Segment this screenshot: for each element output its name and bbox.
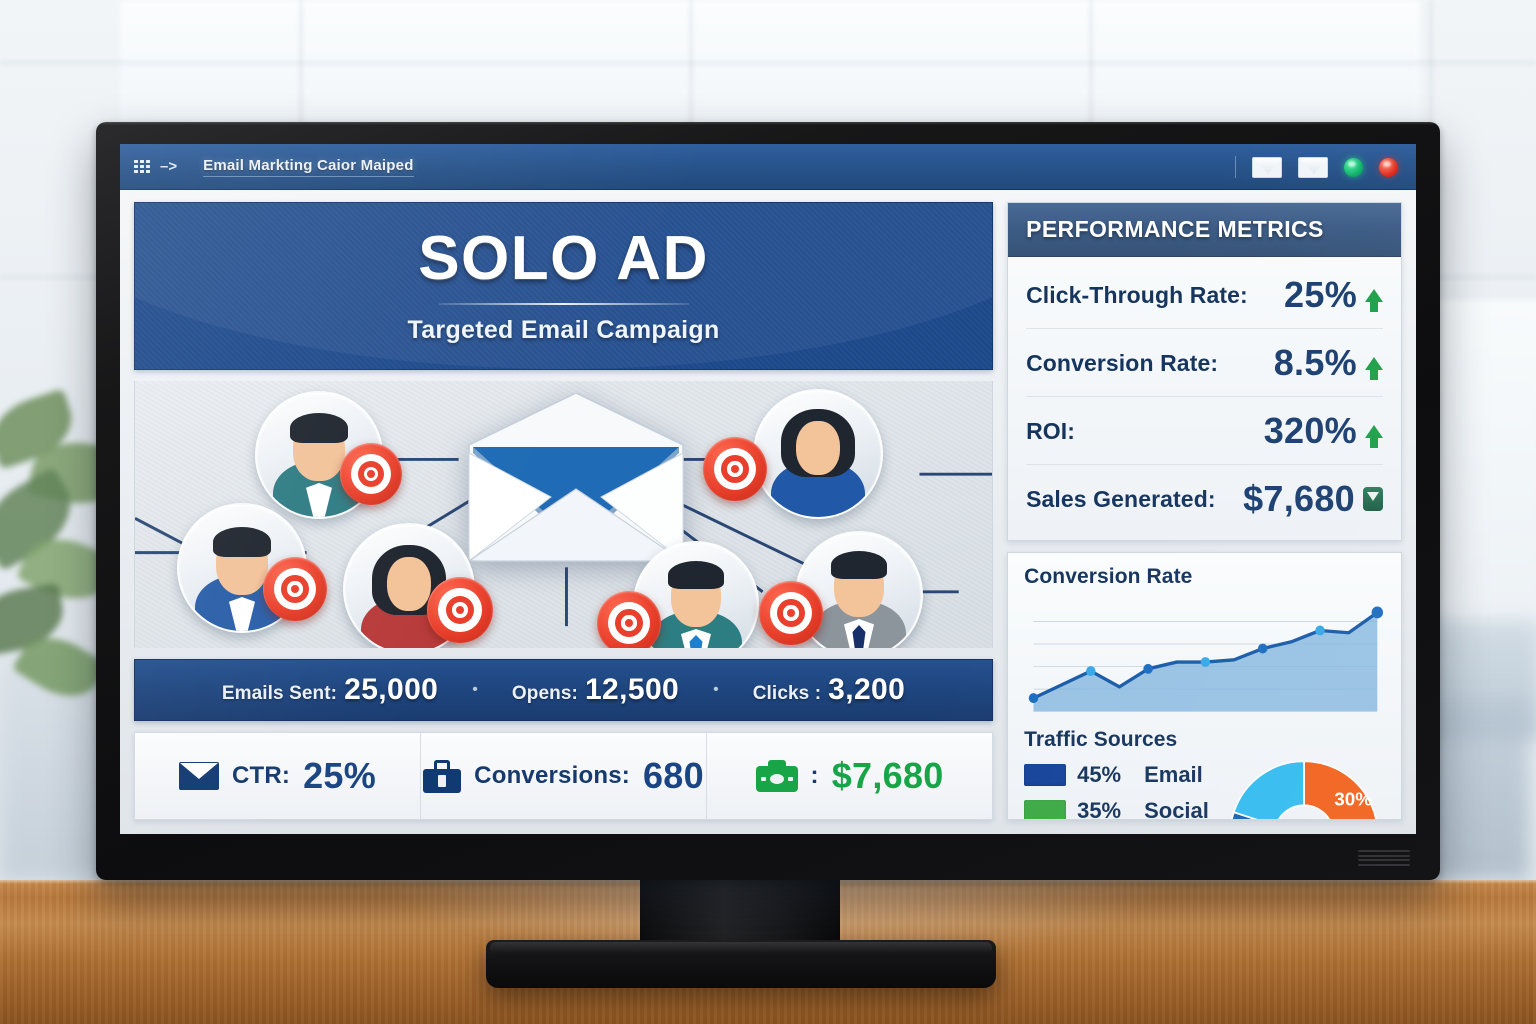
envelope-icon[interactable] (1298, 157, 1328, 178)
kpi-summary-row: CTR: 25% Conversions: 680 : $7,680 (134, 732, 993, 820)
legend-label: Social (1144, 798, 1209, 820)
target-icon (597, 591, 661, 648)
monitor-screen: –> Email Markting Caior Maiped SOLO AD (120, 144, 1416, 834)
titlebar-divider (1235, 156, 1236, 178)
stat-label: Opens: (512, 683, 578, 705)
stat-value: 12,500 (585, 673, 679, 707)
kpi-label: CTR: (232, 762, 290, 790)
kpi-label: Conversions: (474, 762, 630, 790)
stat-clicks: Clicks : 3,200 (753, 673, 905, 707)
metric-value: 25% (1284, 274, 1357, 316)
envelope-icon[interactable] (1252, 157, 1282, 178)
kpi-value: $7,680 (832, 755, 944, 797)
dashboard-body: SOLO AD Targeted Email Campaign (120, 190, 1416, 834)
stat-label: Emails Sent: (222, 683, 337, 705)
briefcase-icon (423, 760, 461, 793)
stat-emails-sent: Emails Sent: 25,000 (222, 673, 438, 707)
legend-percent: 35% (1077, 798, 1133, 820)
metric-roi: ROI: 320% (1026, 396, 1383, 464)
stat-opens: Opens: 12,500 (512, 673, 679, 707)
page-title: SOLO AD (418, 228, 709, 290)
performance-metrics-panel: PERFORMANCE METRICS Click-Through Rate: … (1007, 202, 1402, 541)
conversion-rate-chart-title: Conversion Rate (1024, 565, 1385, 589)
page-subtitle: Targeted Email Campaign (408, 316, 720, 345)
envelope-icon (179, 762, 219, 790)
hero-divider (439, 303, 689, 305)
dashboard-right-column: PERFORMANCE METRICS Click-Through Rate: … (1007, 202, 1402, 820)
campaign-stats-bar: Emails Sent: 25,000 • Opens: 12,500 • Cl… (134, 659, 993, 721)
green-status-dot[interactable] (1344, 158, 1363, 177)
target-icon (759, 581, 823, 645)
metric-value: 8.5% (1274, 342, 1357, 384)
stat-label: Clicks : (753, 683, 821, 705)
kpi-value: 25% (303, 755, 376, 797)
trend-up-icon (1365, 357, 1383, 370)
bezel-vents (1358, 850, 1410, 866)
computer-monitor: –> Email Markting Caior Maiped SOLO AD (96, 122, 1440, 880)
traffic-sources-chart-title: Traffic Sources (1024, 728, 1385, 752)
kpi-conversions[interactable]: Conversions: 680 (420, 733, 706, 819)
window-title: Email Markting Caior Maiped (203, 157, 413, 177)
metric-label: Click-Through Rate: (1026, 282, 1248, 309)
svg-text:30%: 30% (1334, 789, 1372, 810)
window-titlebar: –> Email Markting Caior Maiped (120, 144, 1416, 190)
trend-up-icon (1365, 289, 1383, 302)
metric-sales-generated: Sales Generated: $7,680 (1026, 464, 1383, 532)
legend-swatch (1024, 764, 1066, 786)
dashboard-left-column: SOLO AD Targeted Email Campaign (134, 202, 993, 820)
metric-click-through-rate: Click-Through Rate: 25% (1026, 261, 1383, 328)
trend-up-icon (1365, 425, 1383, 438)
kpi-value: 680 (643, 755, 704, 797)
stat-value: 3,200 (828, 673, 905, 707)
metric-label: Conversion Rate: (1026, 350, 1218, 377)
metric-label: ROI: (1026, 418, 1075, 445)
panel-header: PERFORMANCE METRICS (1008, 203, 1401, 257)
kpi-label: : (811, 762, 819, 790)
legend-swatch (1024, 800, 1066, 820)
conversion-rate-chart (1024, 593, 1385, 720)
target-icon (263, 557, 327, 621)
metric-value: $7,680 (1243, 478, 1355, 520)
kpi-ctr[interactable]: CTR: 25% (135, 733, 420, 819)
money-bag-icon (1363, 487, 1383, 511)
list-item[interactable] (753, 389, 883, 519)
legend-item-email: 45% Email (1024, 762, 1215, 788)
traffic-sources-legend: 45% Email 35% Social 20% O (1024, 754, 1215, 820)
audience-network-diagram (134, 381, 993, 648)
legend-label: Email (1144, 762, 1203, 788)
legend-percent: 45% (1077, 762, 1133, 788)
money-icon (756, 760, 798, 792)
target-icon (340, 443, 402, 505)
metric-value: 320% (1264, 410, 1357, 452)
target-icon (427, 577, 493, 643)
hero-banner: SOLO AD Targeted Email Campaign (134, 202, 993, 370)
stat-value: 25,000 (344, 673, 438, 707)
kpi-sales[interactable]: : $7,680 (706, 733, 992, 819)
separator-bullet: • (472, 681, 478, 699)
grid-menu-icon[interactable] (134, 160, 150, 173)
envelope-icon (465, 393, 687, 565)
metric-conversion-rate: Conversion Rate: 8.5% (1026, 328, 1383, 396)
monitor-stand-base (486, 940, 996, 988)
target-icon (703, 437, 767, 501)
traffic-sources-donut: 30%20% (1223, 754, 1385, 820)
red-status-dot[interactable] (1379, 158, 1398, 177)
panel-title: PERFORMANCE METRICS (1026, 216, 1324, 243)
metric-label: Sales Generated: (1026, 486, 1216, 513)
charts-panel: Conversion Rate Traffic Sources 45% Emai… (1007, 552, 1402, 820)
arrow-glyph-icon[interactable]: –> (160, 159, 177, 174)
legend-item-social: 35% Social (1024, 798, 1215, 820)
wall-line (0, 62, 1536, 64)
separator-bullet: • (713, 681, 719, 699)
